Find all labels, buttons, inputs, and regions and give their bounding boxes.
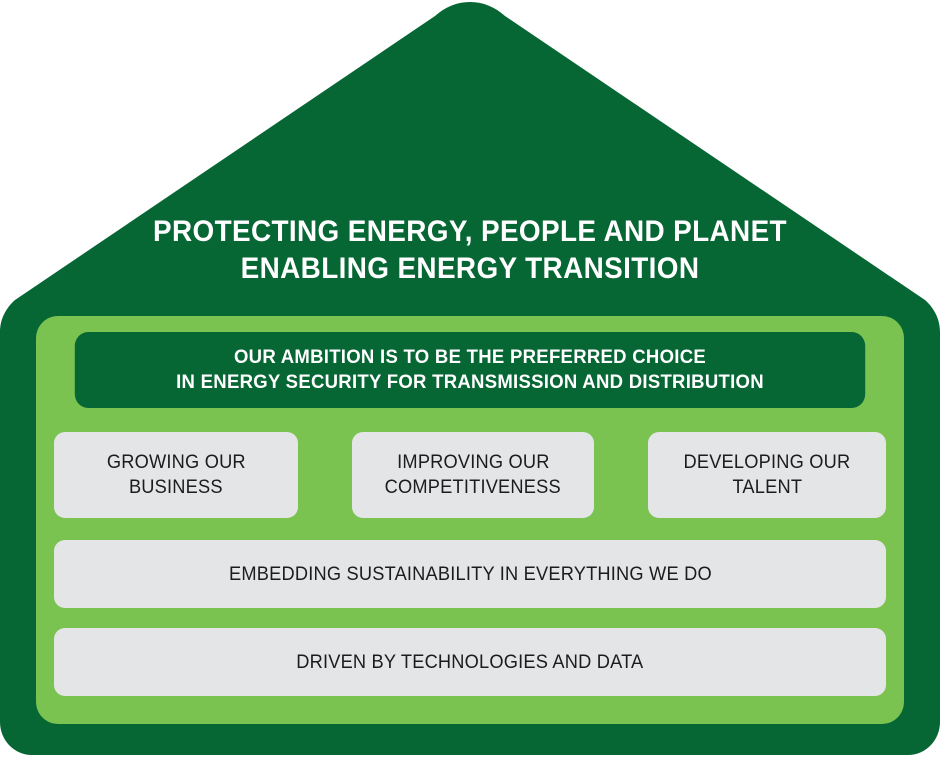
foundation-sustainability[interactable]: EMBEDDING SUSTAINABILITY IN EVERYTHING W… <box>54 540 886 608</box>
foundation-technology-label: DRIVEN BY TECHNOLOGIES AND DATA <box>296 650 643 675</box>
ambition-line-1: OUR AMBITION IS TO BE THE PREFERRED CHOI… <box>234 345 706 370</box>
pillar-1-line-2: BUSINESS <box>129 475 223 500</box>
foundation-sustainability-label: EMBEDDING SUSTAINABILITY IN EVERYTHING W… <box>229 562 712 587</box>
strategy-house-diagram: PROTECTING ENERGY, PEOPLE AND PLANET ENA… <box>0 0 940 760</box>
ambition-line-2: IN ENERGY SECURITY FOR TRANSMISSION AND … <box>176 370 764 395</box>
pillar-3-line-2: TALENT <box>732 475 802 500</box>
pillar-2-line-1: IMPROVING OUR <box>397 450 549 475</box>
headline-line-1: PROTECTING ENERGY, PEOPLE AND PLANET <box>33 213 907 250</box>
pillar-growing-our-business[interactable]: GROWING OUR BUSINESS <box>54 432 298 518</box>
pillar-3-line-1: DEVELOPING OUR <box>684 450 851 475</box>
pillar-1-line-1: GROWING OUR <box>107 450 246 475</box>
pillar-developing-our-talent[interactable]: DEVELOPING OUR TALENT <box>648 432 886 518</box>
pillar-2-line-2: COMPETITIVENESS <box>385 475 561 500</box>
foundation-technology[interactable]: DRIVEN BY TECHNOLOGIES AND DATA <box>54 628 886 696</box>
headline-line-2: ENABLING ENERGY TRANSITION <box>33 250 907 287</box>
ambition-banner: OUR AMBITION IS TO BE THE PREFERRED CHOI… <box>75 332 865 408</box>
page-title: PROTECTING ENERGY, PEOPLE AND PLANET ENA… <box>33 213 907 287</box>
pillar-improving-our-competitiveness[interactable]: IMPROVING OUR COMPETITIVENESS <box>352 432 594 518</box>
